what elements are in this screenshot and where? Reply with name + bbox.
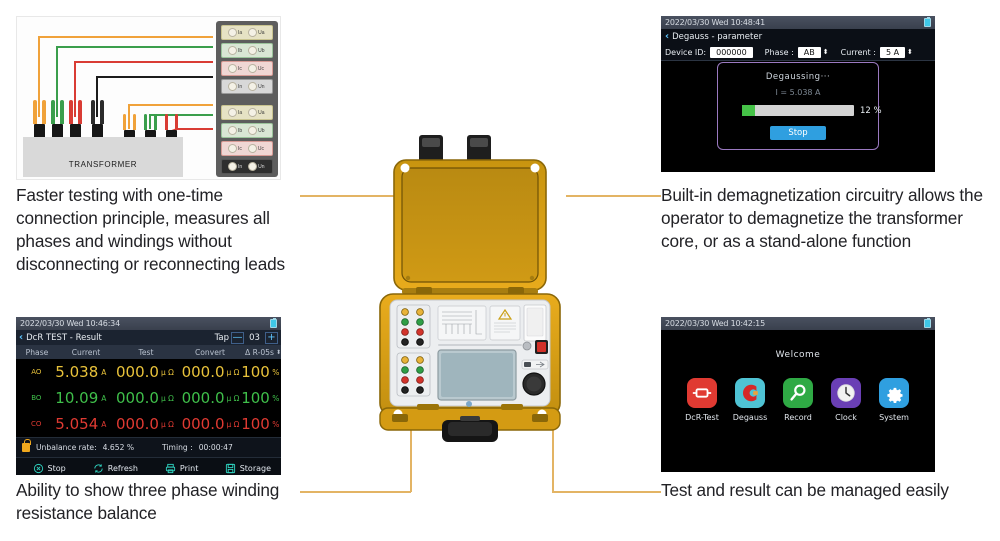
print-button[interactable]: Print (149, 463, 215, 474)
jack-row: InUn (221, 79, 273, 94)
phase-select[interactable]: AB ⬍ (798, 47, 829, 58)
dcr-status-time: 2022/03/30 Wed 10:46:34 (20, 319, 120, 328)
jack-row: IbUb (221, 123, 273, 138)
row-percent: 100 (241, 415, 269, 433)
app-grid: DcR-Test Degauss Recor (661, 378, 935, 422)
dcr-info-bar: Unbalance rate: 4.652 % Timing : 00:00:4… (16, 437, 281, 457)
instrument-case-svg (372, 132, 628, 452)
row-test-unit: μ Ω (159, 368, 176, 377)
caption-top-right: Built-in demagnetization circuitry allow… (661, 184, 999, 253)
dcr-button-bar: Stop Refresh Print (16, 457, 281, 475)
jack-row: IaUa (221, 105, 273, 120)
jack-row: IaUa (221, 25, 273, 40)
tap-minus-button[interactable]: — (231, 332, 244, 344)
app-system[interactable]: System (877, 378, 911, 422)
current-label: Current : (841, 48, 876, 57)
instrument-jack-panel: IaUa IbUb IcUc InUn IaUa IbUb IcUc InUn (216, 21, 278, 177)
stop-button-label: Stop (48, 464, 66, 473)
welcome-statusbar: 2022/03/30 Wed 10:42:15 (661, 317, 935, 330)
row-test-unit: μ Ω (159, 394, 176, 403)
row-current-unit: A (98, 394, 110, 403)
degauss-screen: 2022/03/30 Wed 10:48:41 ‹ Degauss - para… (661, 16, 935, 172)
device-id-label: Device ID: (665, 48, 706, 57)
clip-O: O (91, 100, 104, 140)
caption-bottom-right: Test and result can be managed easily (661, 479, 981, 502)
current-select[interactable]: 5 A ⬍ (880, 47, 913, 58)
jack-label: Ua (258, 110, 264, 116)
save-disk-icon (225, 463, 236, 474)
row-phase: BO (16, 394, 45, 402)
row-current: 10.09 (45, 389, 98, 407)
progress-bar: 12 % (742, 105, 854, 116)
dcr-nav-title: DcR TEST - Result (26, 333, 102, 343)
refresh-button[interactable]: Refresh (82, 463, 148, 474)
refresh-button-label: Refresh (108, 464, 138, 473)
jack-label: In (238, 164, 242, 170)
jack-label: Ia (238, 110, 242, 116)
row-percent-unit: % (269, 394, 281, 403)
degauss-parameter-row: Device ID: 000000 Phase : AB ⬍ Current :… (661, 44, 935, 61)
magnet-icon (735, 378, 765, 408)
jack-label: Ia (238, 30, 242, 36)
column-test: Test (114, 348, 178, 357)
column-phase: Phase (16, 348, 58, 357)
jack-label: Ib (238, 48, 242, 54)
spinner-icon[interactable]: ⬍ (823, 49, 829, 56)
storage-button-label: Storage (240, 464, 271, 473)
clock-icon (831, 378, 861, 408)
app-label: Degauss (733, 413, 767, 422)
back-chevron-icon[interactable]: ‹ (19, 332, 23, 343)
jack-label: Ib (238, 128, 242, 134)
clip-B: B (51, 100, 64, 140)
row-current-unit: A (98, 420, 110, 429)
row-test: 000.0 (110, 363, 159, 381)
device-id-input[interactable]: 000000 (710, 47, 753, 58)
app-record[interactable]: Record (781, 378, 815, 422)
jack-label: Ua (258, 30, 264, 36)
jack-label: Un (258, 84, 264, 90)
jack-label: Un (258, 164, 264, 170)
row-convert-unit: μ Ω (225, 368, 242, 377)
lock-icon (22, 443, 30, 452)
degauss-status-time: 2022/03/30 Wed 10:48:41 (665, 18, 765, 27)
jack-label: In (238, 84, 242, 90)
jack-row: IcUc (221, 61, 273, 76)
app-label: Record (784, 413, 812, 422)
jack-row: IcUc (221, 141, 273, 156)
tap-selector[interactable]: Tap — 03 + (215, 332, 278, 344)
row-phase: AO (16, 368, 45, 376)
jack-label: Ub (258, 128, 264, 134)
dcr-navbar: ‹ DcR TEST - Result Tap — 03 + (16, 330, 281, 345)
spinner-icon[interactable]: ⬍ (276, 349, 281, 356)
row-convert-unit: μ Ω (225, 394, 242, 403)
spinner-icon[interactable]: ⬍ (907, 49, 913, 56)
row-percent-unit: % (269, 368, 281, 377)
current-value: 5 A (880, 47, 905, 58)
degaussing-title: Degaussing··· (766, 72, 830, 82)
table-row: AO 5.038 A 000.0 μ Ω 000.0 μ Ω 100 % (16, 359, 281, 385)
stop-button[interactable]: Stop (16, 463, 82, 474)
table-row: CO 5.054 A 000.0 μ Ω 000.0 μ Ω 100 % (16, 411, 281, 437)
progress-fill (742, 105, 755, 116)
table-row: BO 10.09 A 000.0 μ Ω 000.0 μ Ω 100 % (16, 385, 281, 411)
degauss-statusbar: 2022/03/30 Wed 10:48:41 (661, 16, 935, 29)
app-label: System (879, 413, 909, 422)
caption-top-left: Faster testing with one-time connection … (16, 184, 306, 276)
progress-percent: 12 % (860, 106, 882, 116)
transformer-connection-diagram: A B C O a b c (16, 16, 281, 180)
row-current: 5.054 (45, 415, 98, 433)
printer-icon (165, 463, 176, 474)
row-percent: 100 (241, 389, 269, 407)
dcr-statusbar: 2022/03/30 Wed 10:46:34 (16, 317, 281, 330)
instrument-case (372, 132, 628, 452)
connector-line-bottom-right-h (552, 491, 661, 493)
clip-C: C (69, 100, 82, 140)
refresh-icon (93, 463, 104, 474)
column-convert: Convert (178, 348, 242, 357)
jack-row: IbUb (221, 43, 273, 58)
gear-icon (879, 378, 909, 408)
transformer-label: TRANSFORMER (23, 160, 183, 169)
stop-circle-icon (33, 463, 44, 474)
column-current: Current (58, 348, 114, 357)
row-current: 5.038 (45, 363, 98, 381)
row-percent: 100 (241, 363, 269, 381)
jack-label: Ic (238, 146, 242, 152)
tap-label: Tap (215, 333, 229, 343)
degauss-stop-button[interactable]: Stop (770, 126, 825, 140)
caption-bottom-left: Ability to show three phase winding resi… (16, 479, 286, 525)
print-button-label: Print (180, 464, 198, 473)
row-convert: 000.0 (176, 415, 225, 433)
app-degauss[interactable]: Degauss (733, 378, 767, 422)
column-delta-r-label: Δ R-05s (245, 348, 274, 357)
battery-icon (270, 319, 277, 328)
degaussing-current: I = 5.038 A (775, 88, 820, 97)
jack-row: InUn (221, 159, 273, 174)
welcome-status-time: 2022/03/30 Wed 10:42:15 (665, 319, 765, 328)
row-test-unit: μ Ω (159, 420, 176, 429)
clip-A: A (33, 100, 46, 140)
dcr-result-screen: 2022/03/30 Wed 10:46:34 ‹ DcR TEST - Res… (16, 317, 281, 475)
welcome-title: Welcome (661, 350, 935, 360)
row-convert: 000.0 (176, 363, 225, 381)
jack-label: Ub (258, 48, 264, 54)
jack-label: Ic (238, 66, 242, 72)
degaussing-dialog: Degaussing··· I = 5.038 A 12 % Stop (717, 62, 879, 150)
welcome-screen: 2022/03/30 Wed 10:42:15 Welcome DcR-Test (661, 317, 935, 472)
phase-value: AB (798, 47, 821, 58)
degauss-nav-title: Degauss - parameter (672, 32, 762, 42)
connector-line-bottom-left-h (300, 491, 411, 493)
resistor-icon (687, 378, 717, 408)
row-convert: 000.0 (176, 389, 225, 407)
row-current-unit: A (98, 368, 110, 377)
app-dcr-test[interactable]: DcR-Test (685, 378, 719, 422)
battery-icon (924, 319, 931, 328)
degauss-navbar[interactable]: ‹ Degauss - parameter (661, 29, 935, 44)
storage-button[interactable]: Storage (215, 463, 281, 474)
jack-label: Uc (258, 146, 264, 152)
tap-value: 03 (246, 333, 263, 343)
battery-icon (924, 18, 931, 27)
app-label: DcR-Test (685, 413, 719, 422)
magnifier-icon (783, 378, 813, 408)
dcr-column-header: Phase Current Test Convert Δ R-05s ⬍ (16, 345, 281, 359)
column-delta-r[interactable]: Δ R-05s ⬍ (242, 348, 281, 357)
jack-label: Uc (258, 66, 264, 72)
row-convert-unit: μ Ω (225, 420, 242, 429)
phase-label: Phase : (765, 48, 794, 57)
timing-value: 00:00:47 (199, 443, 233, 452)
unbalance-value: 4.652 % (103, 443, 134, 452)
app-clock[interactable]: Clock (829, 378, 863, 422)
back-chevron-icon[interactable]: ‹ (665, 31, 669, 42)
row-percent-unit: % (269, 420, 281, 429)
row-test: 000.0 (110, 415, 159, 433)
row-phase: CO (16, 420, 45, 428)
app-label: Clock (835, 413, 857, 422)
unbalance-label: Unbalance rate: (36, 443, 97, 452)
transformer-body (23, 137, 183, 177)
row-test: 000.0 (110, 389, 159, 407)
tap-plus-button[interactable]: + (265, 332, 278, 344)
page-root: A B C O a b c (0, 0, 1000, 541)
timing-label: Timing : (162, 443, 193, 452)
